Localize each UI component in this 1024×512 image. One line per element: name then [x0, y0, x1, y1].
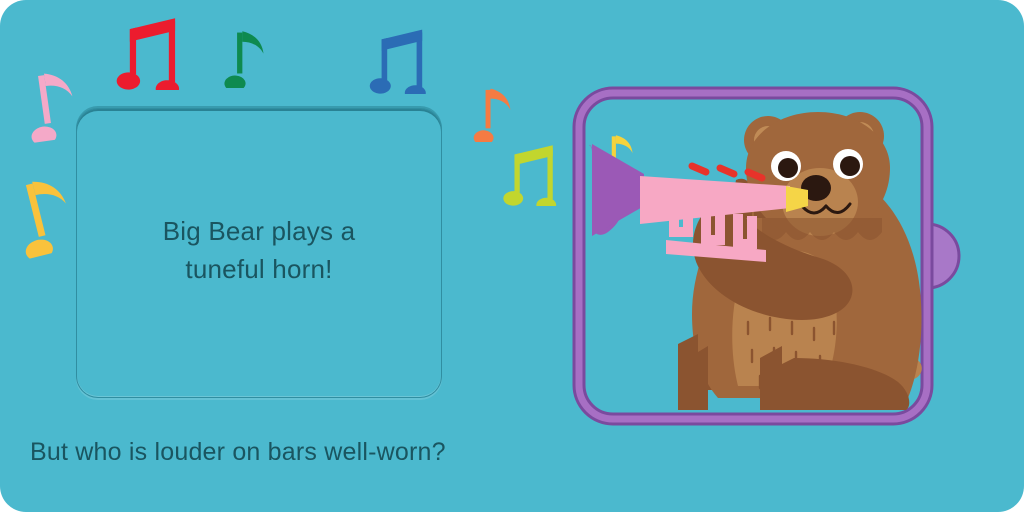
story-text-panel: Big Bear plays a tuneful horn!	[76, 108, 442, 398]
note-green-single-icon	[212, 22, 278, 88]
story-line-2: tuneful horn!	[77, 251, 441, 289]
bear-eye-left	[771, 151, 801, 181]
note-red-beamed-icon	[108, 12, 186, 90]
book-page: Big Bear plays a tuneful horn! But who i…	[0, 0, 1024, 512]
trumpet-bell-cone	[592, 144, 644, 236]
bear-eye-right	[833, 149, 863, 179]
bear-illustration-frame	[570, 84, 962, 428]
note-blue-beamed-icon	[362, 24, 432, 94]
story-line-1: Big Bear plays a	[77, 213, 441, 251]
note-orange-single-icon	[462, 80, 524, 142]
story-text: Big Bear plays a tuneful horn!	[77, 213, 441, 288]
bear-chest-scallop	[762, 218, 882, 240]
bear-playing-trumpet-svg	[580, 90, 952, 420]
question-text: But who is louder on bars well-worn?	[30, 438, 446, 467]
note-lime-beamed-icon	[496, 140, 562, 206]
